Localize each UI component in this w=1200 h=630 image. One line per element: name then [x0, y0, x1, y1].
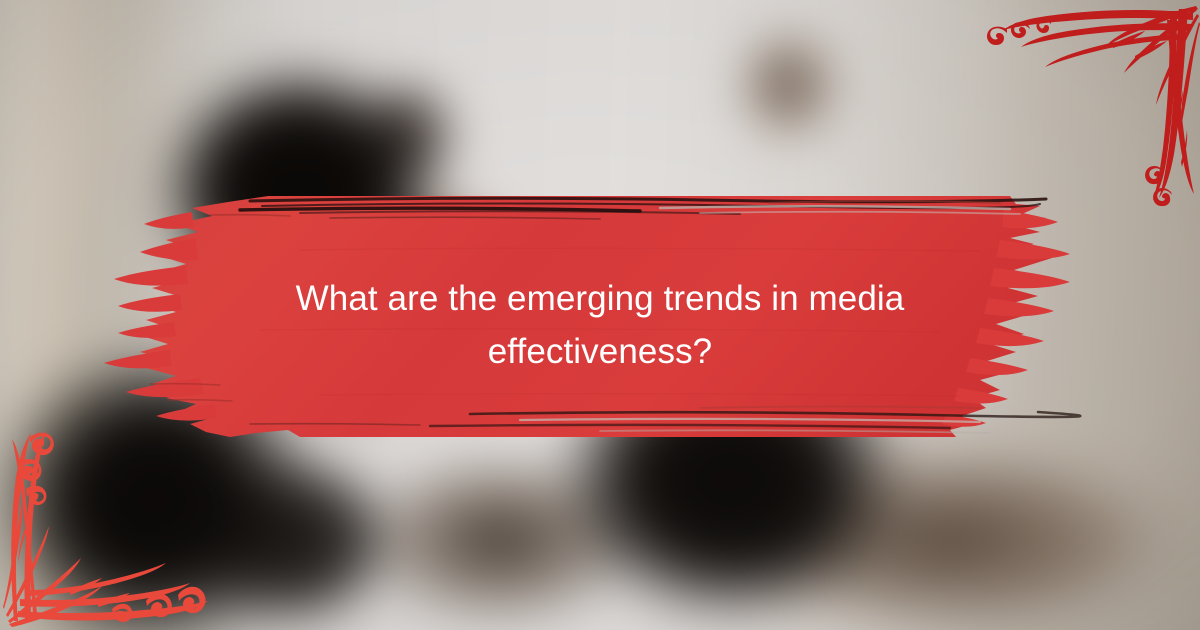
ornament-bottom-left [0, 415, 225, 630]
floral-flourish-corner-icon [987, 6, 1200, 206]
page-title: What are the emerging trends in media ef… [185, 272, 1015, 378]
quote-card-canvas: What are the emerging trends in media ef… [0, 0, 1200, 630]
ornament-top-right [985, 0, 1200, 215]
floral-flourish-corner-icon [3, 431, 208, 627]
